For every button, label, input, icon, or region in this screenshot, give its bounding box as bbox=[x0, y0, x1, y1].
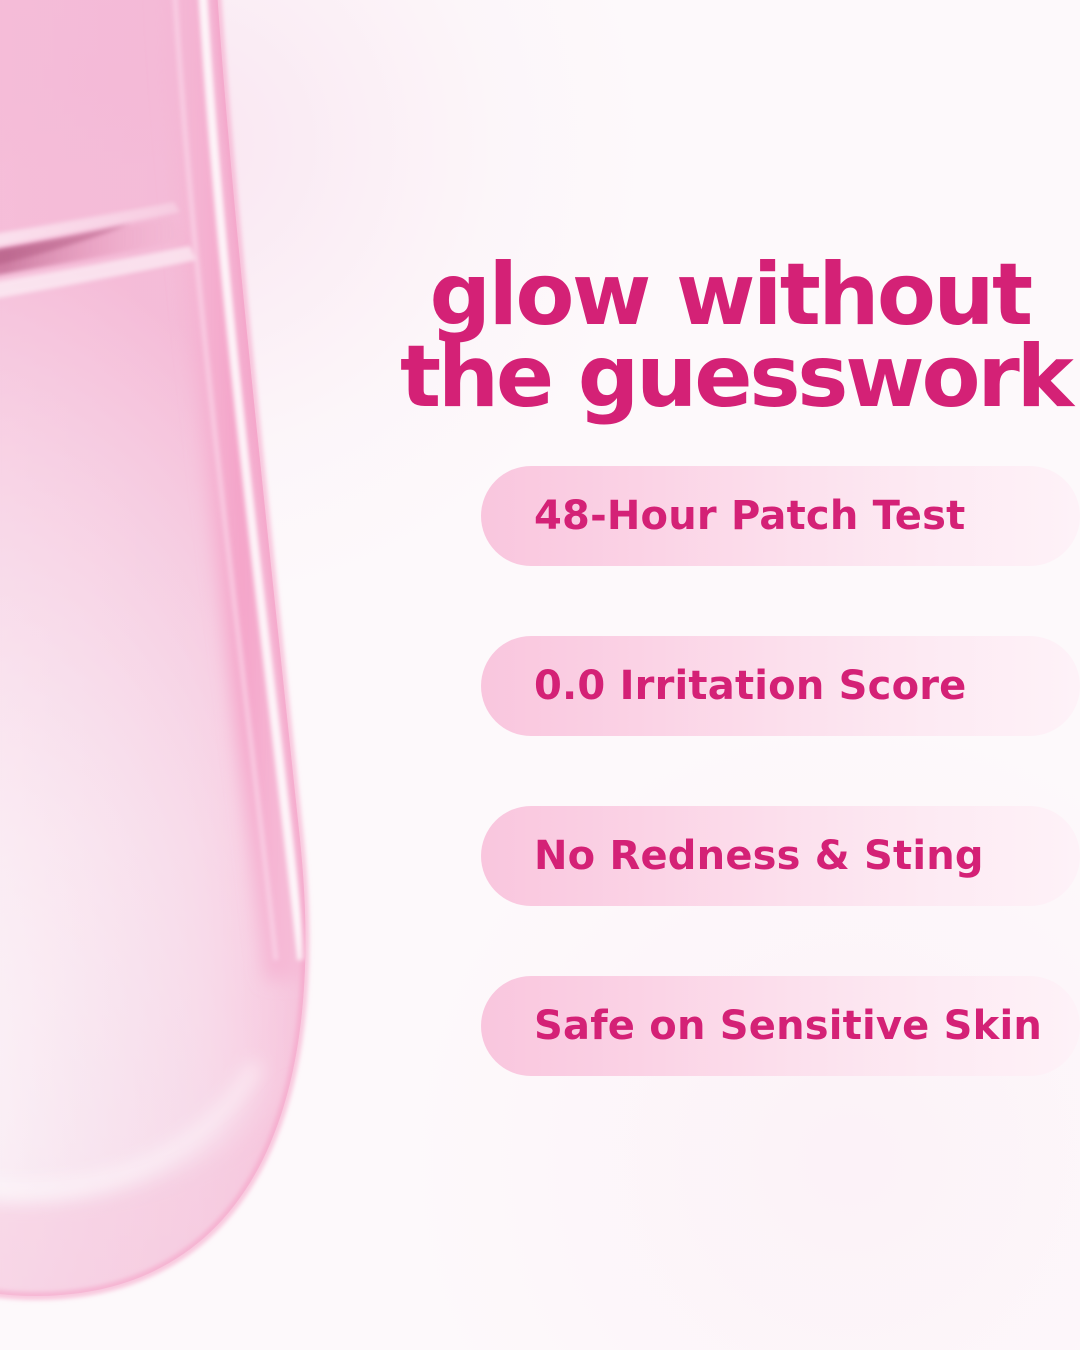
bottle-glass-edge bbox=[170, 0, 302, 960]
feature-pill-label: 48-Hour Patch Test bbox=[481, 493, 965, 539]
headline-line-2: the guesswork bbox=[400, 336, 1060, 419]
bottle-base-arc bbox=[0, 1064, 256, 1191]
bottle-base-shading bbox=[0, 1060, 296, 1320]
bottle-illustration bbox=[0, 0, 420, 1340]
promo-poster: glow without the guesswork 48-Hour Patch… bbox=[0, 0, 1080, 1350]
feature-pill-sensitive-skin[interactable]: Safe on Sensitive Skin bbox=[481, 976, 1080, 1076]
feature-pill-label: Safe on Sensitive Skin bbox=[481, 1003, 1042, 1049]
page-title: glow without the guesswork bbox=[400, 254, 1060, 419]
feature-pill-label: No Redness & Sting bbox=[481, 833, 984, 879]
feature-pill-no-redness[interactable]: No Redness & Sting bbox=[481, 806, 1080, 906]
feature-pill-irritation-score[interactable]: 0.0 Irritation Score bbox=[481, 636, 1080, 736]
feature-pill-patch-test[interactable]: 48-Hour Patch Test bbox=[481, 466, 1080, 566]
headline-line-1: glow without bbox=[400, 254, 1060, 337]
bottle-right-rim bbox=[152, 0, 316, 980]
product-bottle-image bbox=[0, 0, 420, 1340]
bottle-body bbox=[0, 0, 380, 1340]
feature-pill-label: 0.0 Irritation Score bbox=[481, 663, 967, 709]
feature-pill-list: 48-Hour Patch Test 0.0 Irritation Score … bbox=[481, 466, 1080, 1076]
bottle-outline bbox=[0, 0, 305, 1296]
liquid-meniscus bbox=[0, 202, 196, 344]
